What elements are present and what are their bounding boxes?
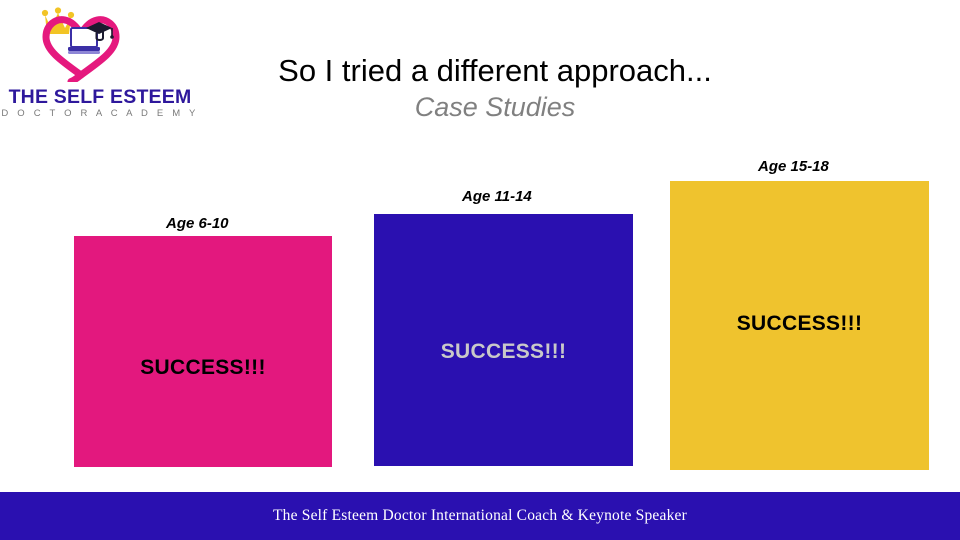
age-label-15-18: Age 15-18 <box>758 158 829 175</box>
slide-subtitle: Case Studies <box>200 90 790 124</box>
age-label-11-14: Age 11-14 <box>462 188 532 205</box>
brand-logo: THE SELF ESTEEM D O C T O R A C A D E M … <box>0 2 200 124</box>
bar-age-11-14: SUCCESS!!! <box>374 214 633 466</box>
footer-bar: The Self Esteem Doctor International Coa… <box>0 492 960 540</box>
bar-age-15-18: SUCCESS!!! <box>670 181 929 470</box>
bar-label-age-15-18: SUCCESS!!! <box>737 312 863 336</box>
heart-crown-laptop-icon <box>18 2 146 82</box>
footer-text: The Self Esteem Doctor International Coa… <box>273 507 687 525</box>
bar-age-6-10: SUCCESS!!! <box>74 236 332 467</box>
slide-canvas: THE SELF ESTEEM D O C T O R A C A D E M … <box>0 0 960 540</box>
bar-label-age-11-14: SUCCESS!!! <box>441 340 567 364</box>
slide-title-block: So I tried a different approach... Case … <box>200 52 790 124</box>
brand-name: THE SELF ESTEEM <box>0 86 200 109</box>
slide-title: So I tried a different approach... <box>200 52 790 90</box>
bar-label-age-6-10: SUCCESS!!! <box>140 356 266 380</box>
brand-subtitle: D O C T O R A C A D E M Y <box>0 108 200 119</box>
age-label-6-10: Age 6-10 <box>166 215 229 232</box>
